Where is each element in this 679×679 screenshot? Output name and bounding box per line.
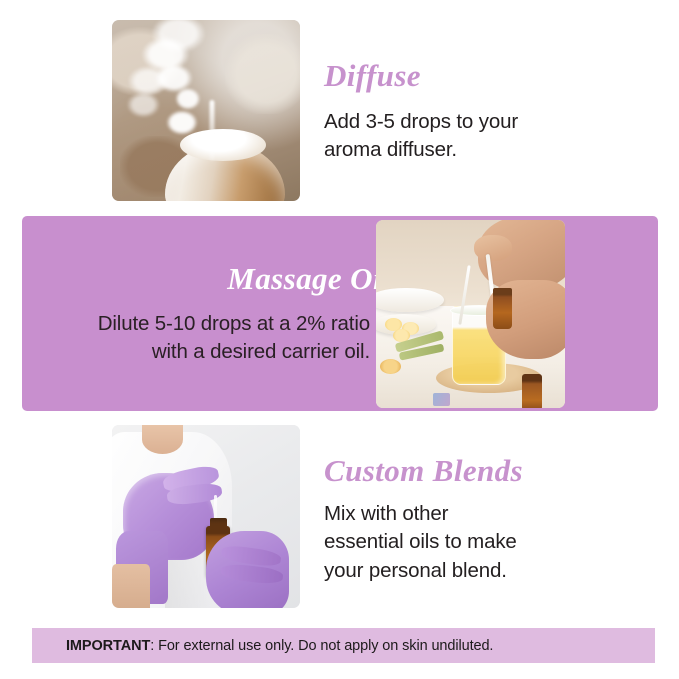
custom-blends-heading: Custom Blends [324,455,523,486]
important-separator: : [150,638,158,654]
carrier-oil-mixing-photo [376,220,565,408]
massage-oil-body-text: Dilute 5-10 drops at a 2% ratiowith a de… [24,310,370,367]
diffuse-body-text: Add 3-5 drops to youraroma diffuser. [324,108,584,165]
important-notice-band: IMPORTANT: For external use only. Do not… [32,628,655,663]
custom-blends-body-text: Mix with otheressential oils to makeyour… [324,500,594,585]
aroma-diffuser-photo [112,20,300,201]
gloved-hands-bottle-photo [112,425,300,608]
important-body: For external use only. Do not apply on s… [158,638,493,654]
diffuse-heading: Diffuse [324,60,421,91]
important-label: IMPORTANT [66,638,150,654]
important-notice-text: IMPORTANT: For external use only. Do not… [32,638,493,654]
massage-oil-heading: Massage Oil [227,263,391,294]
infographic-usage-instructions: Diffuse Add 3-5 drops to youraroma diffu… [0,0,679,679]
